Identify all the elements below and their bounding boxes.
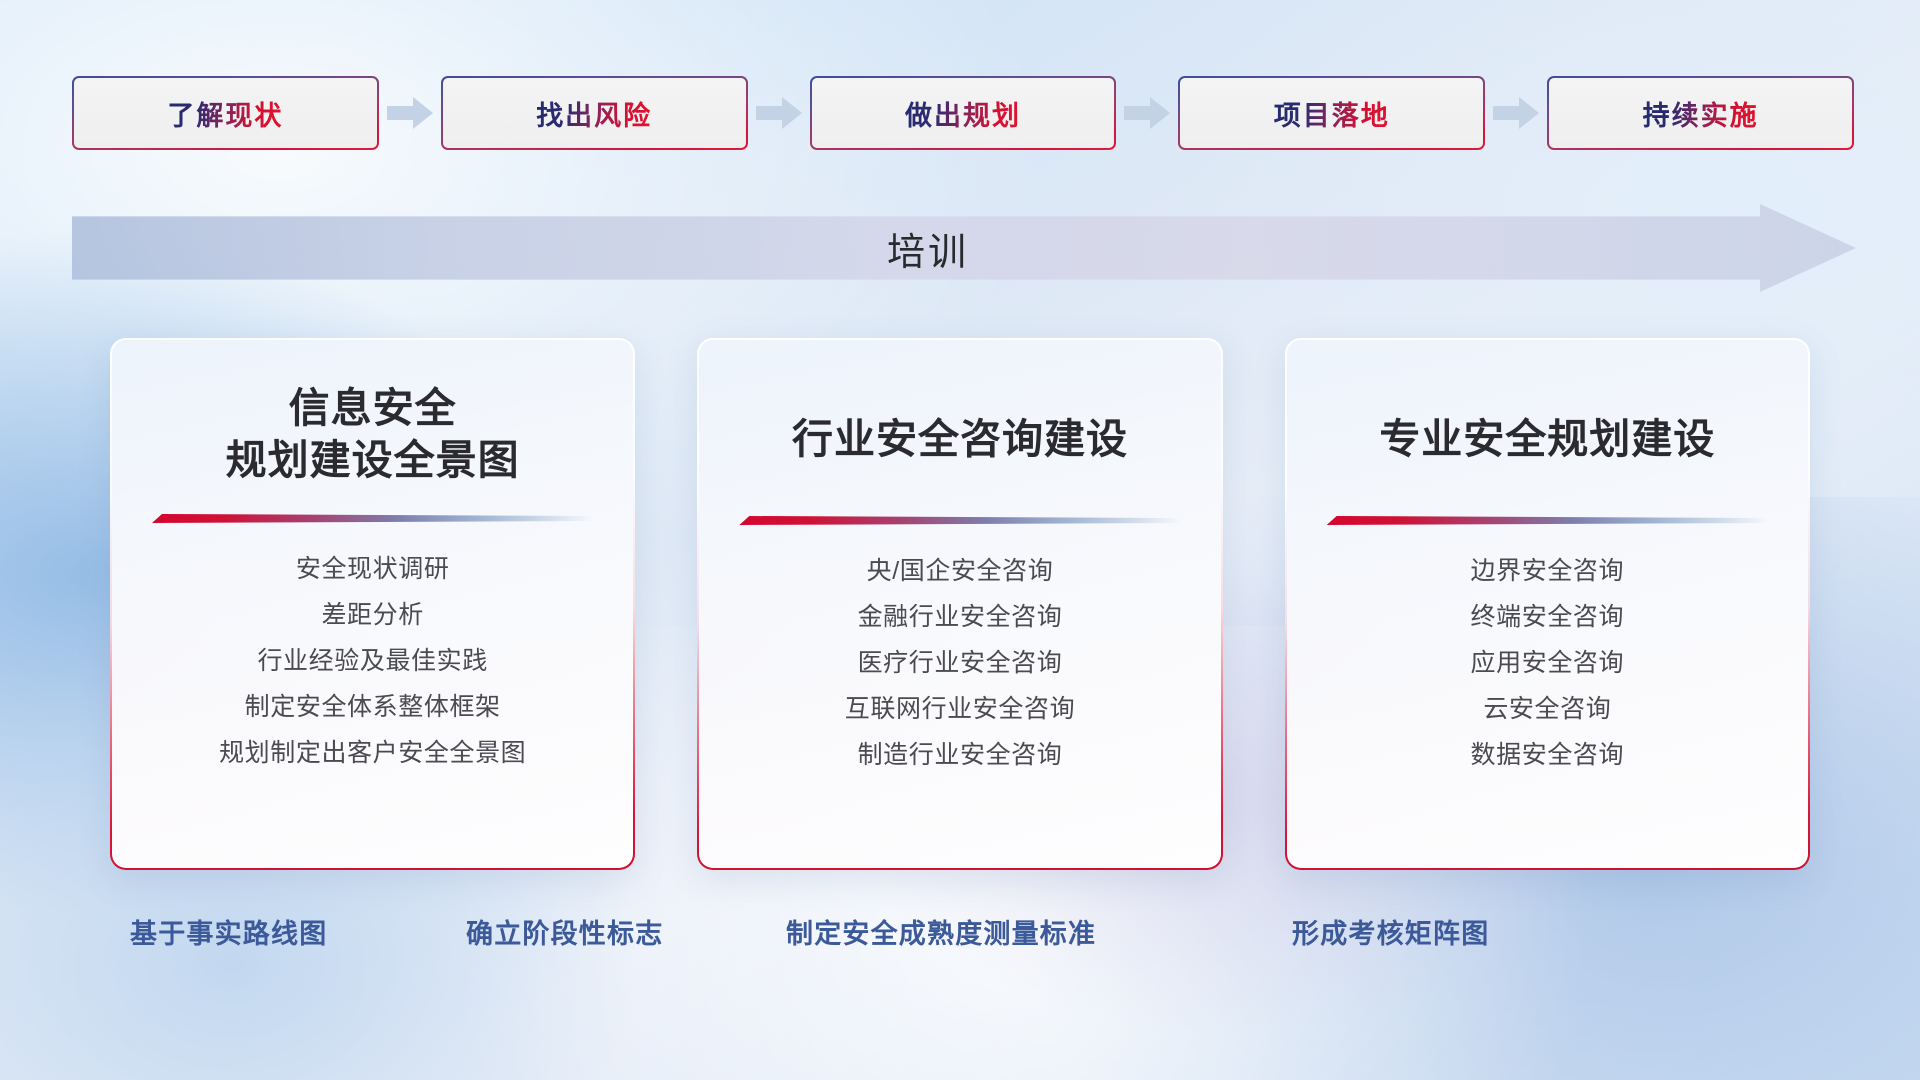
step-label-1: 了解现状 [167,94,283,133]
service-card-1-title-line-1: 信息安全 [226,382,520,434]
outcome-label-3: 制定安全成熟度测量标准 [786,912,1096,951]
step-label-4: 项目落地 [1274,94,1390,133]
list-item: 应用安全咨询 [1471,648,1625,678]
service-card-1-title: 信息安全 规划建设全景图 [226,382,520,492]
step-label-2: 找出风险 [536,94,652,133]
step-box-1[interactable]: 了解现状 [72,76,379,150]
step-arrow-icon-1 [379,76,441,150]
list-item: 行业经验及最佳实践 [257,646,487,676]
step-arrow-icon-3 [1116,76,1178,150]
outcome-label-2: 确立阶段性标志 [466,912,663,951]
step-label-5: 持续实施 [1643,94,1759,133]
list-item: 安全现状调研 [296,554,450,584]
list-item: 制定安全体系整体框架 [245,692,501,722]
service-card-3-title-line-1: 专业安全规划建设 [1379,413,1715,465]
step-box-3[interactable]: 做出规划 [810,76,1117,150]
service-card-3-inner: 专业安全规划建设 边界安全咨询 终端安全咨询 应用安全咨询 云安全咨询 数据安全… [1287,340,1808,868]
service-card-2[interactable]: 行业安全咨询建设 央/国企安全咨询 金融行业安全咨询 医疗行业安全咨询 互联网行… [697,338,1222,870]
service-card-2-title-line-1: 行业安全咨询建设 [792,413,1128,465]
list-item: 差距分析 [321,600,423,630]
list-item: 制造行业安全咨询 [858,740,1063,770]
list-item: 终端安全咨询 [1471,602,1625,632]
service-card-3-list: 边界安全咨询 终端安全咨询 应用安全咨询 云安全咨询 数据安全咨询 [1313,556,1782,770]
step-box-4[interactable]: 项目落地 [1178,76,1485,150]
service-card-1-divider [152,514,593,524]
service-card-3-title: 专业安全规划建设 [1379,384,1715,494]
service-card-1-title-line-2: 规划建设全景图 [226,434,520,486]
service-card-2-divider [739,516,1180,526]
service-card-1-list: 安全现状调研 差距分析 行业经验及最佳实践 制定安全体系整体框架 规划制定出客户… [138,554,607,768]
outcome-label-1: 基于事实路线图 [130,912,327,951]
step-label-3: 做出规划 [905,94,1021,133]
training-banner: 培训 [72,204,1856,292]
list-item: 边界安全咨询 [1471,556,1625,586]
step-box-5[interactable]: 持续实施 [1547,76,1854,150]
step-box-4-inner: 项目落地 [1180,78,1483,148]
service-card-2-inner: 行业安全咨询建设 央/国企安全咨询 金融行业安全咨询 医疗行业安全咨询 互联网行… [699,340,1220,868]
list-item: 互联网行业安全咨询 [845,694,1075,724]
service-card-3-divider [1327,516,1768,526]
outcome-label-4: 形成考核矩阵图 [1292,912,1489,951]
service-card-1-inner: 信息安全 规划建设全景图 安全现状调研 差距分析 行业经验及最佳实践 制定安全体… [112,340,633,868]
outcome-labels: 基于事实路线图 确立阶段性标志 制定安全成熟度测量标准 形成考核矩阵图 [0,912,1920,962]
list-item: 云安全咨询 [1483,694,1611,724]
service-card-2-list: 央/国企安全咨询 金融行业安全咨询 医疗行业安全咨询 互联网行业安全咨询 制造行… [725,556,1194,770]
service-card-2-title: 行业安全咨询建设 [792,384,1128,494]
list-item: 医疗行业安全咨询 [858,648,1063,678]
list-item: 数据安全咨询 [1471,740,1625,770]
step-box-5-inner: 持续实施 [1549,78,1852,148]
service-card-3[interactable]: 专业安全规划建设 边界安全咨询 终端安全咨询 应用安全咨询 云安全咨询 数据安全… [1285,338,1810,870]
list-item: 央/国企安全咨询 [867,556,1054,586]
step-box-2-inner: 找出风险 [443,78,746,148]
training-banner-label: 培训 [72,204,1856,292]
process-steps: 了解现状 找出风险 做出规划 项目落地 [72,76,1854,150]
list-item: 金融行业安全咨询 [858,602,1063,632]
step-arrow-icon-2 [748,76,810,150]
service-cards: 信息安全 规划建设全景图 安全现状调研 差距分析 行业经验及最佳实践 制定安全体… [110,338,1810,870]
step-box-3-inner: 做出规划 [812,78,1115,148]
step-arrow-icon-4 [1485,76,1547,150]
step-box-1-inner: 了解现状 [74,78,377,148]
service-card-1[interactable]: 信息安全 规划建设全景图 安全现状调研 差距分析 行业经验及最佳实践 制定安全体… [110,338,635,870]
step-box-2[interactable]: 找出风险 [441,76,748,150]
list-item: 规划制定出客户安全全景图 [219,738,526,768]
